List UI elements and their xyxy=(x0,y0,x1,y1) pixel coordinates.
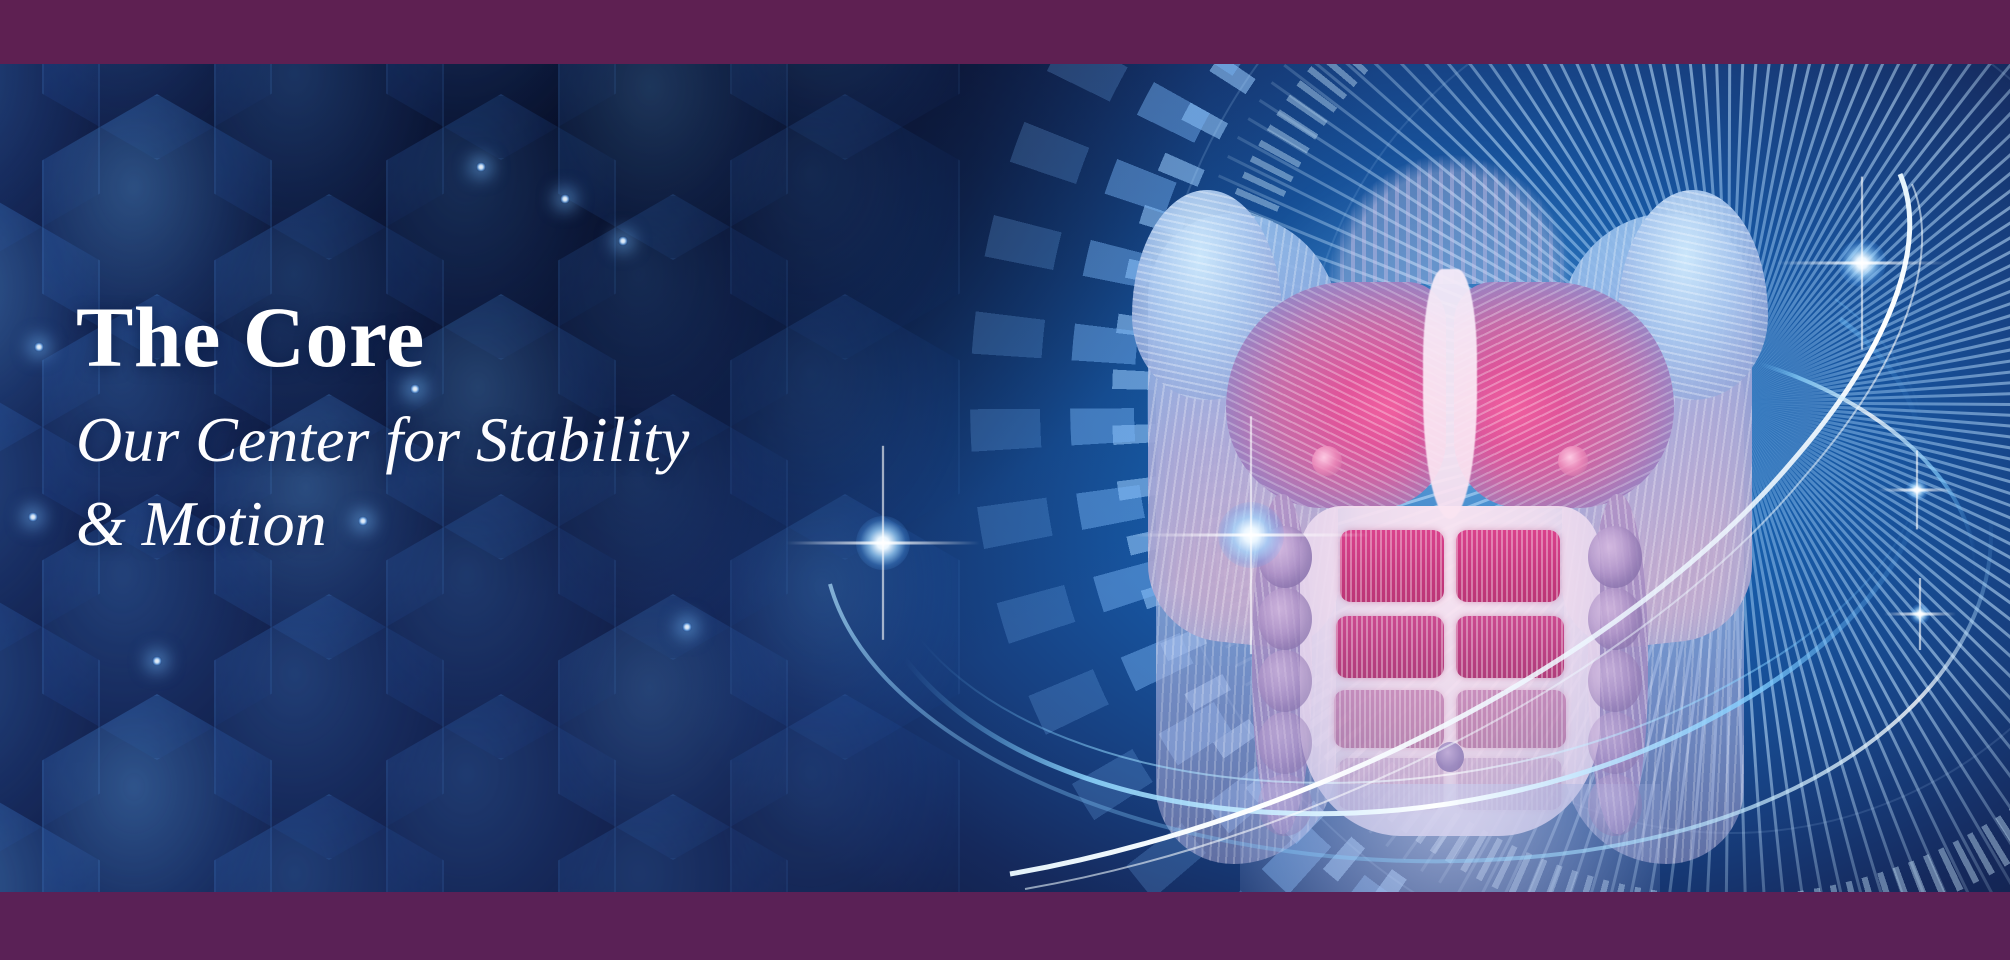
page-subtitle: Our Center for Stability & Motion xyxy=(76,398,689,567)
artwork-stage: The Core Our Center for Stability & Moti… xyxy=(0,64,2010,892)
oblique-bead xyxy=(1258,774,1312,836)
oblique-bead xyxy=(1588,774,1642,836)
ab-segment xyxy=(1334,690,1444,748)
oblique-bead xyxy=(1588,588,1642,650)
ab-segment xyxy=(1456,616,1564,678)
nipple-left xyxy=(1312,446,1342,476)
glow-spark xyxy=(152,656,162,666)
glow-spark xyxy=(34,342,44,352)
ab-segment xyxy=(1336,616,1444,678)
core-hero-banner: The Core Our Center for Stability & Moti… xyxy=(0,0,2010,960)
oblique-bead xyxy=(1588,712,1642,774)
glow-spark xyxy=(476,162,486,172)
lens-flare-small-right-2 xyxy=(1910,604,1930,624)
nipple-right xyxy=(1558,446,1588,476)
oblique-bead xyxy=(1258,588,1312,650)
glow-spark xyxy=(560,194,570,204)
oblique-bead xyxy=(1258,712,1312,774)
glow-spark xyxy=(618,236,628,246)
lens-flare-center-right xyxy=(1218,502,1284,568)
page-title: The Core xyxy=(76,294,689,380)
glow-spark xyxy=(682,622,692,632)
top-accent-bar xyxy=(0,0,2010,64)
ab-segment xyxy=(1340,530,1444,602)
ab-segment xyxy=(1456,530,1560,602)
sternum-linea-alba xyxy=(1423,269,1477,519)
lens-flare-small-right xyxy=(1906,479,1928,501)
glow-spark xyxy=(28,512,38,522)
navel xyxy=(1436,742,1464,772)
oblique-bead xyxy=(1258,650,1312,712)
anatomical-torso-figure xyxy=(1130,94,1770,892)
neck-trapezius-fan xyxy=(1285,104,1615,284)
lens-flare-lower-left xyxy=(856,516,910,570)
headline-block: The Core Our Center for Stability & Moti… xyxy=(76,294,689,567)
ab-segment xyxy=(1456,690,1566,748)
oblique-bead xyxy=(1588,526,1642,588)
bottom-accent-bar xyxy=(0,892,2010,960)
oblique-bead xyxy=(1588,650,1642,712)
lens-flare-upper-right xyxy=(1838,239,1886,287)
